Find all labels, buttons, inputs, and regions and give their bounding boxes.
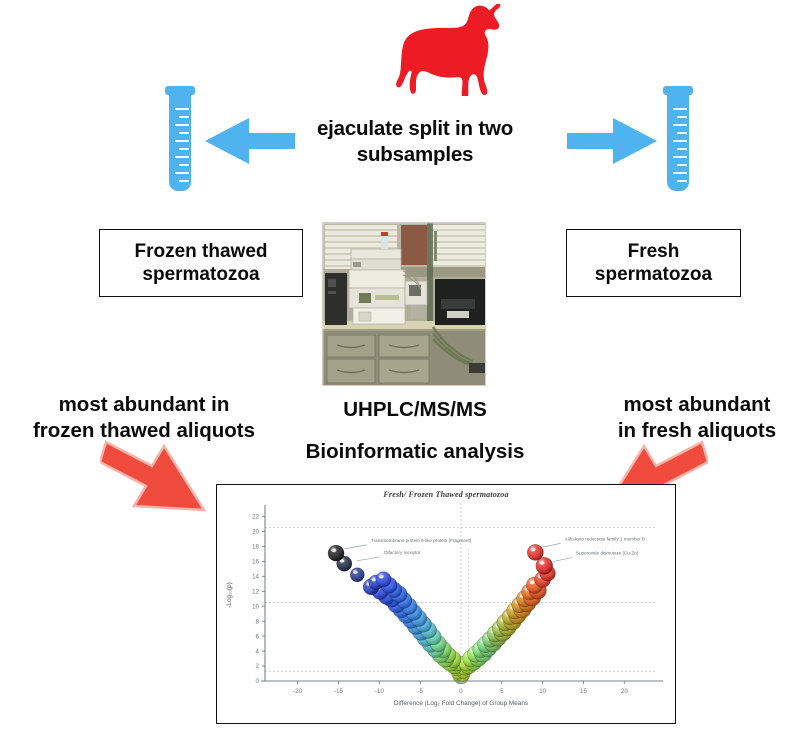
- uhplc-method-label: UHPLC/MS/MS: [285, 398, 545, 422]
- split-text-line-1: ejaculate split in two: [291, 116, 539, 142]
- svg-text:16: 16: [252, 559, 259, 566]
- svg-text:-15: -15: [334, 688, 344, 695]
- svg-text:14: 14: [252, 574, 259, 581]
- svg-text:18: 18: [252, 544, 259, 551]
- fresh-box-line-1: Fresh: [595, 240, 712, 263]
- svg-text:4: 4: [256, 648, 260, 655]
- bioinformatic-analysis-label: Bioinformatic analysis: [285, 440, 545, 464]
- split-text-line-2: subsamples: [291, 142, 539, 168]
- svg-text:0: 0: [256, 678, 260, 685]
- svg-text:12: 12: [252, 588, 259, 595]
- svg-text:-10: -10: [375, 688, 385, 695]
- volcano-data-points: [328, 544, 555, 683]
- svg-text:2: 2: [256, 663, 260, 670]
- svg-text:0: 0: [459, 688, 463, 695]
- svg-text:10: 10: [539, 688, 546, 695]
- svg-text:Difference (Log₂ Fold Change): Difference (Log₂ Fold Change) of Group M…: [394, 700, 528, 707]
- horse-silhouette-icon: [385, 4, 505, 96]
- svg-text:Aldo-keto reductase family 1 m: Aldo-keto reductase family 1 member B: [565, 536, 645, 541]
- svg-text:8: 8: [256, 618, 260, 625]
- arrow-left-icon: [205, 118, 295, 164]
- svg-text:-20: -20: [293, 688, 303, 695]
- volcano-annotations: Transmembrane protein 9-like protein (Fr…: [344, 536, 645, 561]
- tube-icon-right: [663, 86, 693, 191]
- svg-text:10: 10: [252, 603, 259, 610]
- sample-box-fresh: Fresh spermatozoa: [566, 229, 741, 297]
- arrow-down-left-red-icon: [100, 436, 210, 522]
- tube-icon-left: [165, 86, 195, 191]
- volcano-plot-svg: 0246810121416182022-20-15-10-505101520 T…: [217, 485, 677, 725]
- graphical-abstract: ejaculate split in two subsamples Frozen…: [0, 0, 808, 737]
- fresh-box-line-2: spermatozoa: [595, 263, 712, 286]
- tube-cap: [165, 86, 195, 95]
- volcano-gridlines: [265, 503, 657, 681]
- svg-text:5: 5: [500, 688, 504, 695]
- abundance-frozen-line-1: most abundant in: [8, 392, 280, 418]
- svg-text:Superoxide dismutase [Cu-Zn]: Superoxide dismutase [Cu-Zn]: [576, 551, 638, 556]
- svg-text:15: 15: [580, 688, 587, 695]
- svg-text:20: 20: [252, 529, 259, 536]
- frozen-box-line-1: Frozen thawed: [134, 240, 267, 263]
- lab-instrument-photo: [322, 222, 486, 386]
- arrow-right-icon: [567, 118, 657, 164]
- sample-box-frozen-thawed: Frozen thawed spermatozoa: [99, 229, 303, 297]
- ejaculate-split-heading: ejaculate split in two subsamples: [291, 116, 539, 168]
- svg-text:Transmembrane protein 9-like p: Transmembrane protein 9-like protein (Fr…: [371, 538, 472, 543]
- volcano-plot-panel: Fresh/ Frozen Thawed spermatozoa 0246810…: [216, 484, 676, 724]
- svg-text:-5: -5: [417, 688, 423, 695]
- svg-text:-Log₁₀(p): -Log₁₀(p): [226, 582, 233, 607]
- svg-text:22: 22: [252, 514, 259, 521]
- svg-text:Olfactory receptor: Olfactory receptor: [384, 550, 421, 555]
- frozen-box-line-2: spermatozoa: [134, 263, 267, 286]
- svg-text:6: 6: [256, 633, 260, 640]
- tube-cap: [663, 86, 693, 95]
- svg-text:20: 20: [621, 688, 628, 695]
- abundance-fresh-line-1: most abundant: [590, 392, 804, 418]
